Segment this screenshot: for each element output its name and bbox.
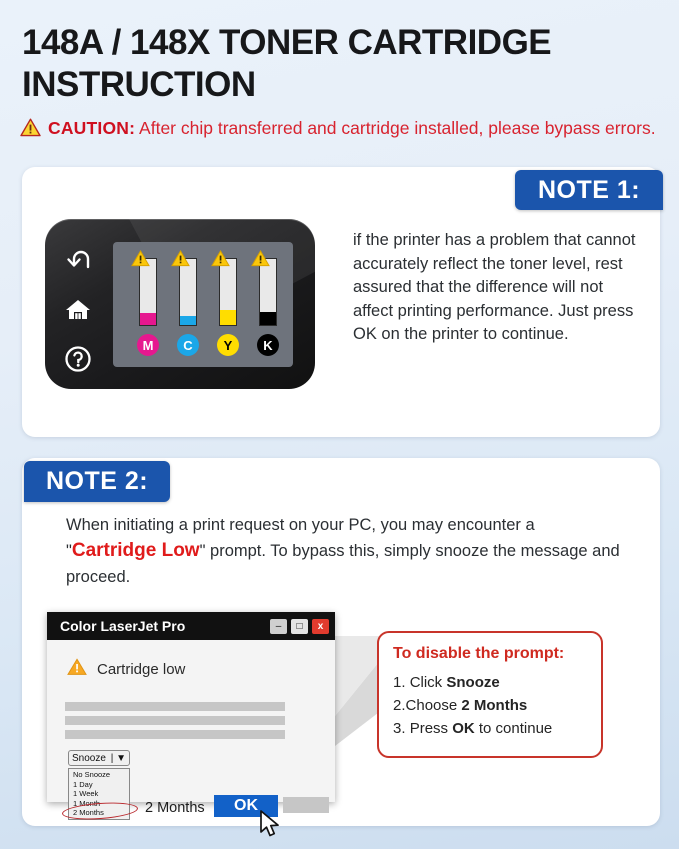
placeholder-line — [65, 716, 285, 725]
cartridge-low-text: Cartridge low — [97, 661, 185, 678]
mouse-cursor-icon — [259, 810, 285, 840]
question-mark-icon[interactable] — [63, 345, 97, 375]
callout-title: To disable the prompt: — [393, 645, 564, 663]
printer-screen: M C Y K — [113, 242, 293, 367]
dropdown-option-1-day[interactable]: 1 Day — [69, 780, 129, 790]
cartridge-low-highlight: Cartridge Low — [72, 540, 200, 561]
dropdown-option-1-week[interactable]: 1 Week — [69, 789, 129, 799]
toner-label: K — [257, 334, 279, 356]
note1-badge: NOTE 1: — [515, 170, 663, 210]
placeholder-line — [65, 702, 285, 711]
step-tail: to continue — [475, 720, 553, 737]
note2-badge: NOTE 2: — [24, 461, 170, 502]
warning-triangle-icon — [211, 250, 230, 271]
toner-fill — [220, 310, 236, 325]
step-number: 3. — [393, 720, 410, 737]
note2-body-text: When initiating a print request on your … — [66, 512, 626, 590]
step-text: Click — [410, 674, 447, 691]
warning-triangle-icon — [251, 250, 270, 271]
step-number: 2. — [393, 697, 406, 714]
chosen-option-label: 2 Months — [145, 800, 205, 816]
page-title: 148A / 148X TONER CARTRIDGE INSTRUCTION — [22, 22, 662, 106]
step-text: Press — [410, 720, 453, 737]
caution-text: CAUTION: After chip transferred and cart… — [48, 118, 656, 139]
dialog-titlebar: Color LaserJet Pro – □ x — [47, 612, 335, 640]
close-icon[interactable]: x — [312, 619, 329, 634]
snooze-select-label: Snooze — [72, 753, 106, 764]
warning-triangle-icon — [20, 118, 41, 141]
back-arrow-icon[interactable] — [63, 249, 97, 279]
callout-steps: 1. Click Snooze 2.Choose 2 Months 3. Pre… — [393, 671, 552, 740]
maximize-icon[interactable]: □ — [291, 619, 308, 634]
chevron-down-icon: | ▼ — [111, 753, 126, 764]
toner-label: Y — [217, 334, 239, 356]
snooze-select[interactable]: Snooze | ▼ — [68, 750, 130, 766]
printer-dialog: Color LaserJet Pro – □ x Cartridge low S… — [47, 612, 335, 802]
warning-triangle-icon — [67, 658, 87, 680]
step-number: 1. — [393, 674, 410, 691]
minimize-icon[interactable]: – — [270, 619, 287, 634]
caution-label: CAUTION: — [48, 118, 135, 138]
caution-message: After chip transferred and cartridge ins… — [135, 118, 655, 138]
printer-control-panel: M C Y K — [45, 219, 315, 389]
toner-label: C — [177, 334, 199, 356]
cartridge-low-alert: Cartridge low — [67, 658, 185, 680]
secondary-button[interactable] — [283, 797, 329, 813]
caution-row: CAUTION: After chip transferred and cart… — [20, 118, 660, 141]
dialog-body: Cartridge low Snooze | ▼ No Snooze 1 Day… — [47, 640, 335, 802]
toner-label: M — [137, 334, 159, 356]
placeholder-line — [65, 730, 285, 739]
callout-step-3: 3. Press OK to continue — [393, 717, 552, 740]
toner-fill — [260, 312, 276, 325]
home-icon[interactable] — [63, 297, 97, 327]
callout-box: To disable the prompt: 1. Click Snooze 2… — [377, 631, 603, 758]
dropdown-option-no-snooze[interactable]: No Snooze — [69, 770, 129, 780]
step-bold: OK — [452, 720, 475, 737]
step-bold: Snooze — [446, 674, 499, 691]
callout-step-1: 1. Click Snooze — [393, 671, 552, 694]
warning-triangle-icon — [171, 250, 190, 271]
step-bold: 2 Months — [461, 697, 527, 714]
note1-body-text: if the printer has a problem that cannot… — [353, 229, 643, 347]
toner-fill — [180, 316, 196, 325]
callout-step-2: 2.Choose 2 Months — [393, 694, 552, 717]
step-text: Choose — [406, 697, 462, 714]
toner-fill — [140, 313, 156, 325]
warning-triangle-icon — [131, 250, 150, 271]
dialog-title: Color LaserJet Pro — [60, 618, 266, 634]
